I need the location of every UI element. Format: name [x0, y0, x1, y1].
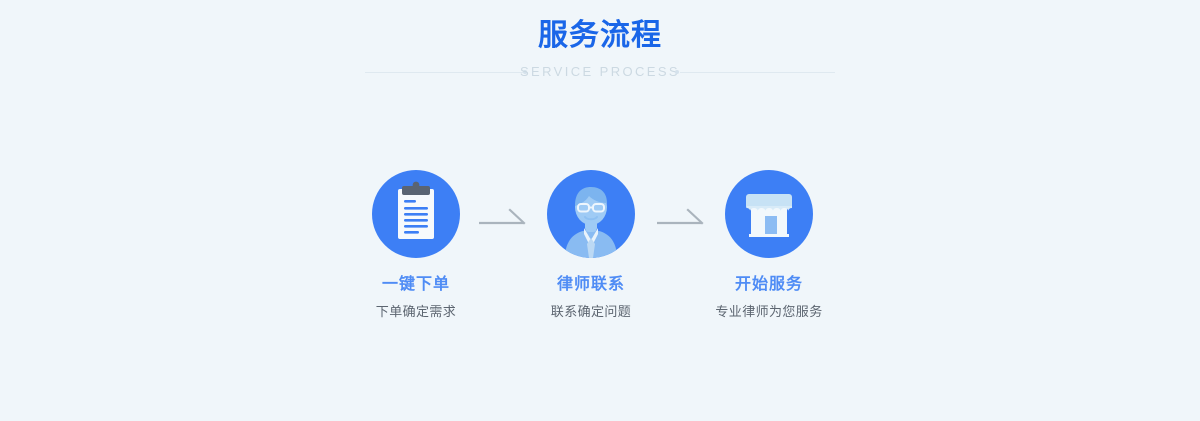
subtitle-row: SERVICE PROCESS: [0, 62, 1200, 88]
step-title: 律师联系: [501, 274, 681, 296]
step-description: 下单确定需求: [326, 303, 506, 321]
process-steps: 一键下单 下单确定需求: [0, 170, 1200, 340]
divider-line-right: [680, 72, 835, 73]
divider-dot-right: [675, 70, 679, 74]
process-step-start-service[interactable]: 开始服务 专业律师为您服务: [679, 170, 859, 321]
step-icon-circle: [725, 170, 813, 258]
step-title: 开始服务: [679, 274, 859, 296]
section-header: 服务流程 SERVICE PROCESS: [0, 18, 1200, 88]
step-description: 专业律师为您服务: [679, 303, 859, 321]
step-icon-circle: [372, 170, 460, 258]
store-icon: [725, 170, 813, 258]
step-title: 一键下单: [326, 274, 506, 296]
service-process-section: 服务流程 SERVICE PROCESS: [0, 0, 1200, 421]
step-icon-circle: [547, 170, 635, 258]
section-subtitle: SERVICE PROCESS: [0, 62, 1200, 82]
page-title: 服务流程: [0, 18, 1200, 54]
lawyer-avatar-icon: [547, 170, 635, 258]
process-step-lawyer-contact[interactable]: 律师联系 联系确定问题: [501, 170, 681, 321]
clipboard-icon: [372, 170, 460, 258]
step-description: 联系确定问题: [501, 303, 681, 321]
process-step-order[interactable]: 一键下单 下单确定需求: [326, 170, 506, 321]
